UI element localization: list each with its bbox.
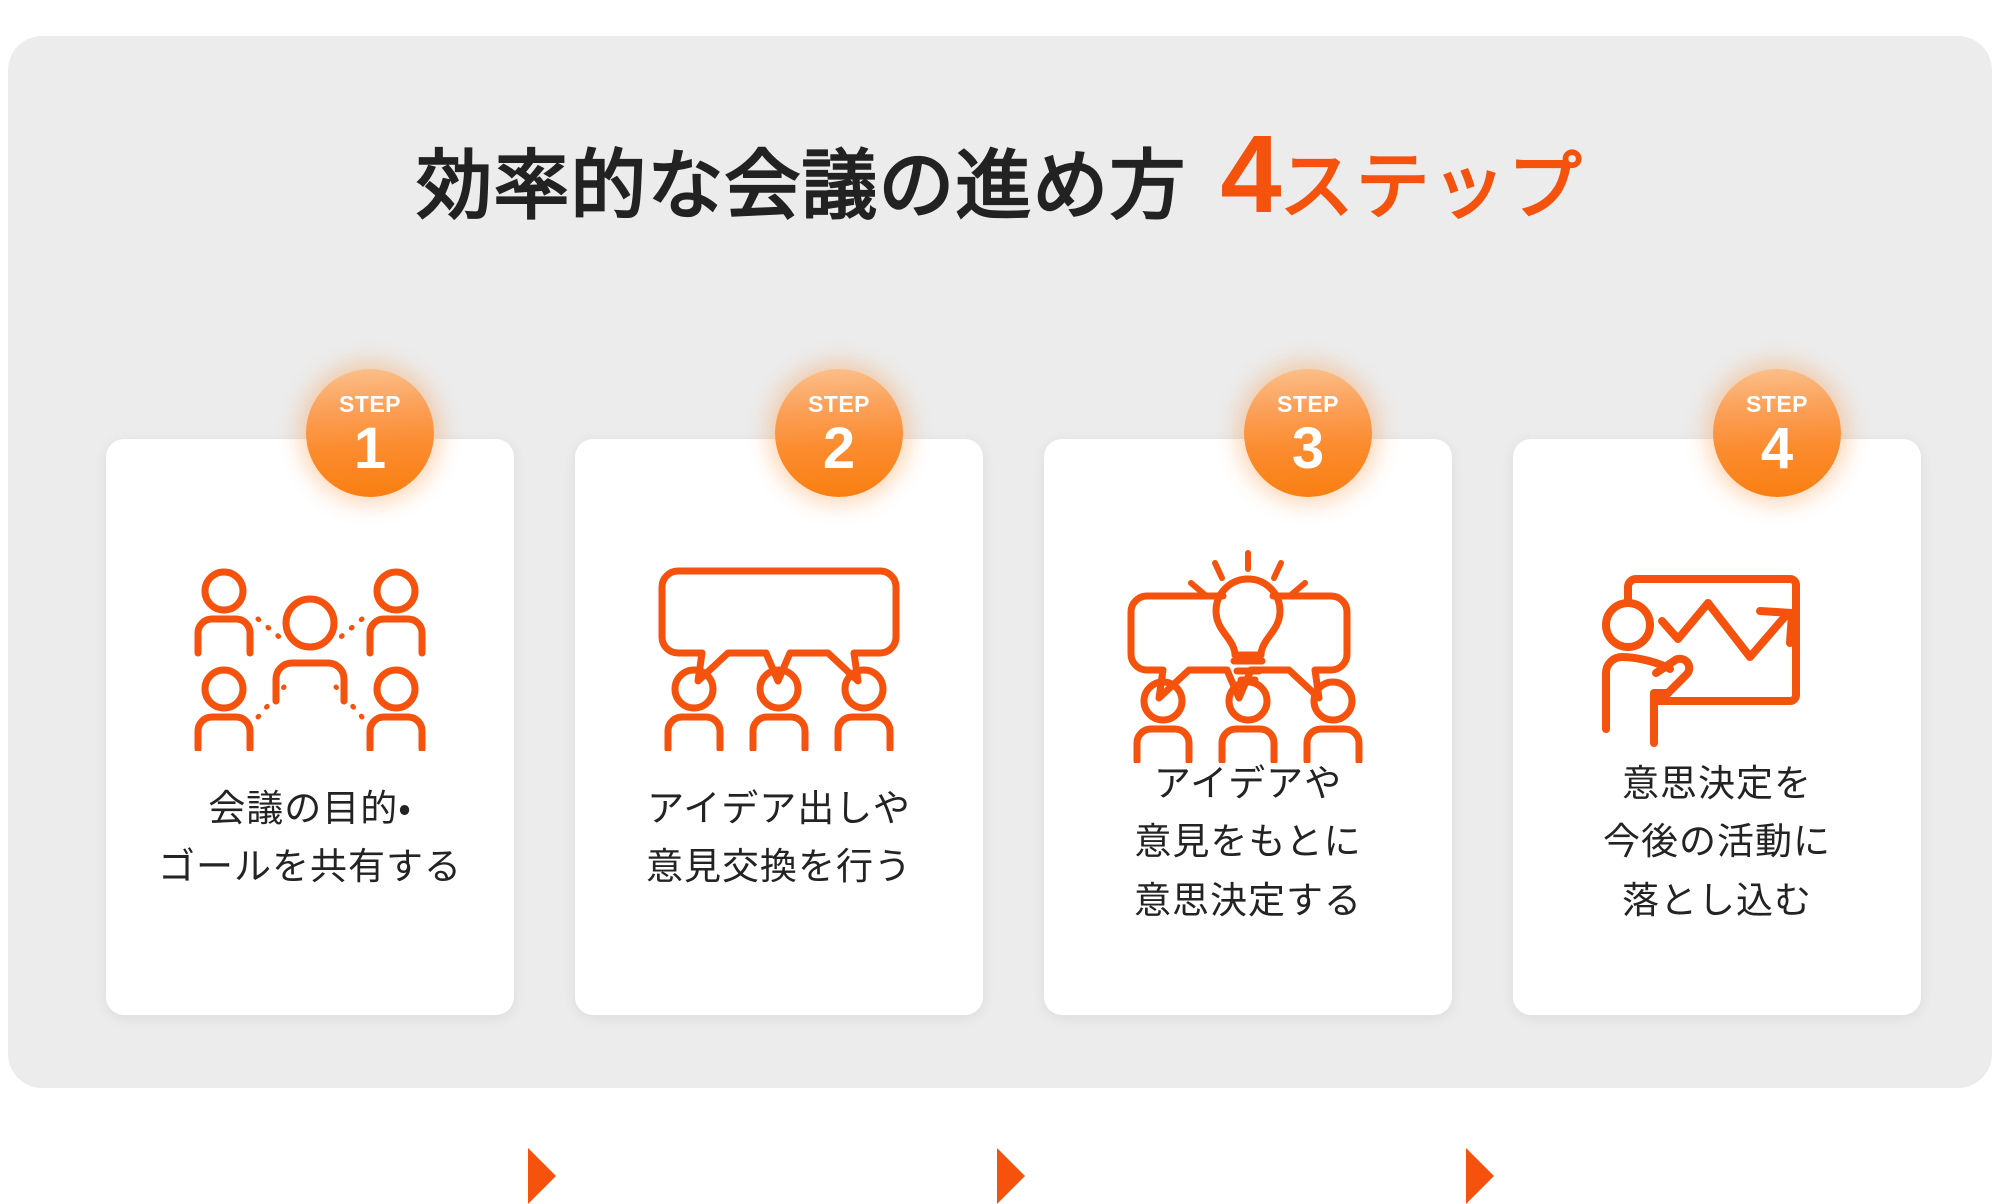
- caption-line: 今後の活動に: [1513, 813, 1921, 871]
- caption-line: 落とし込む: [1513, 872, 1921, 930]
- step-card-3[interactable]: STEP 3: [1044, 430, 1452, 1015]
- group-speech-bubble-icon: [575, 548, 983, 763]
- title-main-text: 効率的な会議の進め方: [416, 144, 1186, 229]
- people-network-icon: [106, 548, 514, 763]
- step-badge-number-2: 2: [823, 420, 855, 478]
- step-card-1[interactable]: STEP 1: [106, 430, 514, 1015]
- title-number: 4: [1220, 113, 1279, 236]
- step-badge-label-1: STEP: [339, 393, 401, 416]
- caption-line: 会議の目的・: [106, 780, 514, 838]
- step-caption-4: 意思決定を 今後の活動に 落とし込む: [1513, 755, 1921, 930]
- caption-line: アイデア出しや: [575, 780, 983, 838]
- step-caption-2: アイデア出しや 意見交換を行う: [575, 780, 983, 897]
- step-badge-label-3: STEP: [1277, 393, 1339, 416]
- caption-line: ゴールを共有する: [106, 838, 514, 896]
- title-suffix: ステップ: [1280, 145, 1584, 228]
- step-caption-3: アイデアや 意見をもとに 意思決定する: [1044, 755, 1452, 930]
- step-badge-label-4: STEP: [1746, 393, 1808, 416]
- arrow-3-to-4-icon: [1466, 1148, 1494, 1204]
- caption-line: 意思決定する: [1044, 872, 1452, 930]
- arrow-1-to-2-icon: [528, 1148, 556, 1204]
- step-badge-3: STEP 3: [1244, 369, 1372, 497]
- arrow-2-to-3-icon: [997, 1148, 1025, 1204]
- caption-line: 意見交換を行う: [575, 838, 983, 896]
- step-badge-number-3: 3: [1292, 420, 1324, 478]
- step-caption-1: 会議の目的・ ゴールを共有する: [106, 780, 514, 897]
- caption-line: 意思決定を: [1513, 755, 1921, 813]
- step-badge-label-2: STEP: [808, 393, 870, 416]
- steps-strip: STEP 1: [0, 430, 2000, 1030]
- step-badge-4: STEP 4: [1713, 369, 1841, 497]
- step-badge-1: STEP 1: [306, 369, 434, 497]
- step-badge-number-4: 4: [1761, 420, 1793, 478]
- presenter-growth-chart-icon: [1513, 548, 1921, 763]
- caption-line: 意見をもとに: [1044, 813, 1452, 871]
- step-badge-number-1: 1: [354, 420, 386, 478]
- caption-line: アイデアや: [1044, 755, 1452, 813]
- page-title: 効率的な会議の進め方4ステップ: [0, 120, 2000, 230]
- lightbulb-decision-icon: [1044, 548, 1452, 763]
- step-badge-2: STEP 2: [775, 369, 903, 497]
- step-card-4[interactable]: STEP 4 意思決定を 今後の活動に: [1513, 430, 1921, 1015]
- step-card-2[interactable]: STEP 2 アイデア出しや 意見交換を行う: [575, 430, 983, 1015]
